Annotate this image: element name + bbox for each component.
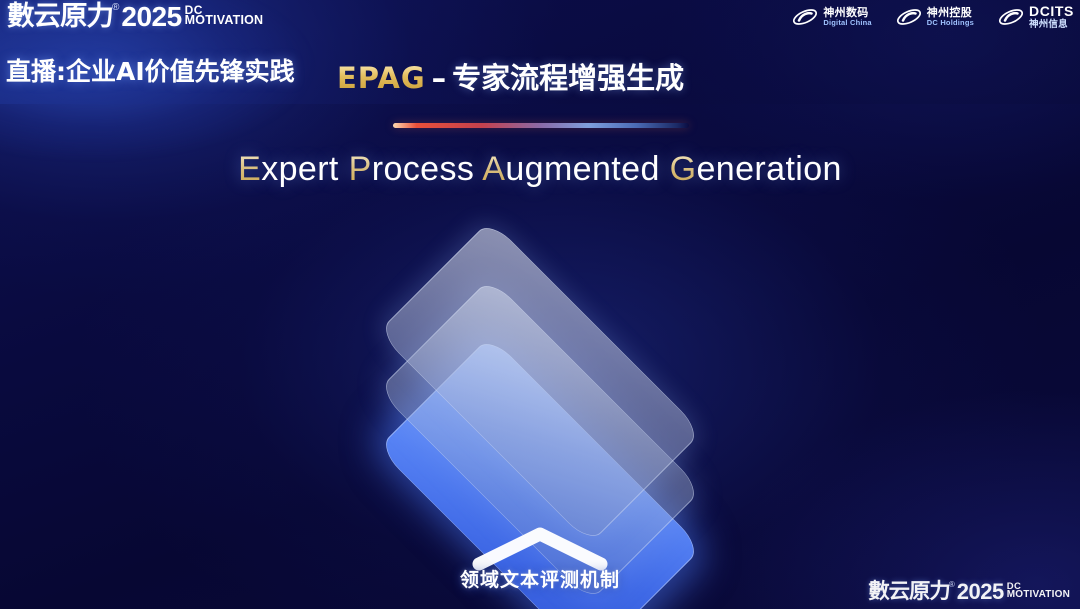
brand-logo-cn: 數云原力 xyxy=(7,3,113,30)
page-title-cn: 专家流程增强生成 xyxy=(452,61,684,95)
headline-word: Expert xyxy=(238,150,339,188)
partner-name-en: Digital China xyxy=(823,19,871,27)
headline-word-cap: G xyxy=(670,150,697,188)
swoosh-icon xyxy=(998,7,1024,27)
page-title-dash: – xyxy=(432,61,447,95)
layer-stack-diagram: 领域文本评测机制 Dynamic MOE 长文本记忆 三类语义建模模块 xyxy=(280,232,800,572)
headline-word-cap: A xyxy=(482,150,505,188)
headline-word-cap: P xyxy=(349,150,372,188)
expanded-acronym-heading: Expert Process Augmented Generation xyxy=(0,150,1080,189)
session-subtitle: 直播:企业AI价值先锋实践 xyxy=(6,52,295,88)
brand-logo-year: 2025 xyxy=(121,3,181,31)
headline-word-rest: ugmented xyxy=(505,150,659,188)
layer-label-top: 领域文本评测机制 xyxy=(460,565,620,592)
headline-word-rest: rocess xyxy=(372,150,475,188)
footer-logo-cn: 數云原力 xyxy=(868,581,950,602)
headline-word-cap: E xyxy=(238,150,261,188)
partner-name-en: 神州信息 xyxy=(1029,20,1074,30)
footer-logo-year: 2025 xyxy=(957,581,1004,603)
partner-name-cn: 神州数码 xyxy=(823,7,871,19)
brand-logo: 數云原力 ® 2025 DC MOTIVATION xyxy=(8,3,263,31)
headline-word: Generation xyxy=(670,150,842,188)
page-title: EPAG–专家流程增强生成 xyxy=(337,55,684,97)
footer-logo-tagline: DC MOTIVATION xyxy=(1007,581,1070,600)
headline-word: Process xyxy=(349,150,475,188)
partner-logo-dcits: DCITS 神州信息 xyxy=(998,4,1074,30)
headline-word: Augmented xyxy=(482,150,660,188)
partner-name-en: DC Holdings xyxy=(927,19,974,27)
page-title-accent: EPAG xyxy=(337,61,426,95)
brand-registered-mark: ® xyxy=(112,3,119,13)
headline-word-rest: xpert xyxy=(261,150,339,188)
brand-logo-tagline: DC MOTIVATION xyxy=(185,3,264,27)
partner-name-cn: 神州控股 xyxy=(927,7,974,19)
gradient-divider xyxy=(393,123,689,128)
headline-word-rest: eneration xyxy=(696,150,841,188)
partner-logo-digital-china: 神州数码 Digital China xyxy=(792,7,871,27)
footer-brand-watermark: 數云原力 ® 2025 DC MOTIVATION xyxy=(869,581,1070,603)
partner-logo-group: 神州数码 Digital China 神州控股 DC Holdings DCIT… xyxy=(792,4,1074,30)
footer-logo-motivation: MOTIVATION xyxy=(1007,590,1070,600)
partner-name-cn: DCITS xyxy=(1029,4,1074,19)
swoosh-icon xyxy=(792,7,818,27)
brand-logo-motivation: MOTIVATION xyxy=(185,14,264,27)
swoosh-icon xyxy=(896,7,922,27)
slide-canvas: 數云原力 ® 2025 DC MOTIVATION 直播:企业AI价值先锋实践 … xyxy=(0,0,1080,609)
partner-logo-dc-holdings: 神州控股 DC Holdings xyxy=(896,7,974,27)
